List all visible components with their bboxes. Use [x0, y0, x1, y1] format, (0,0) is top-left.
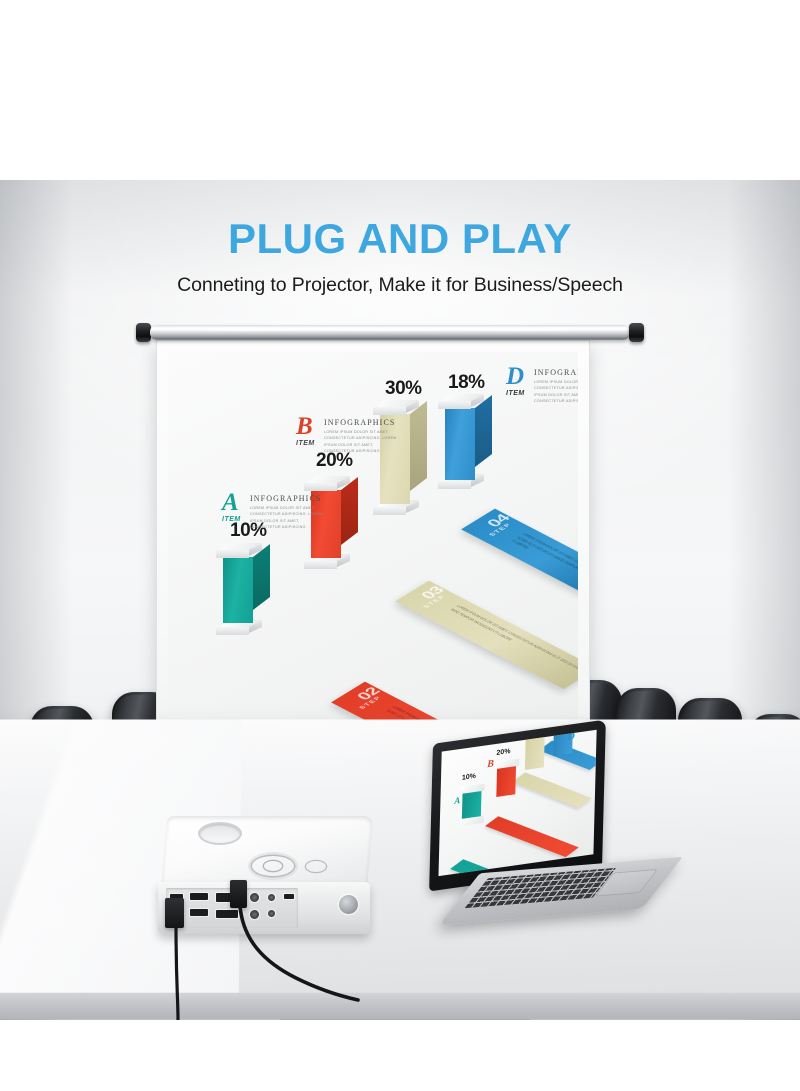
- page-subtitle: Conneting to Projector, Make it for Busi…: [0, 260, 800, 297]
- cable-group: [0, 180, 800, 1020]
- page-title: PLUG AND PLAY: [0, 180, 800, 260]
- product-image-root: PLUG AND PLAY Conneting to Projector, Ma…: [0, 0, 800, 1091]
- power-cable: [176, 926, 178, 1020]
- hdmi-cable: [240, 906, 358, 1000]
- conference-room-photo: PLUG AND PLAY Conneting to Projector, Ma…: [0, 180, 800, 1020]
- headline-block: PLUG AND PLAY Conneting to Projector, Ma…: [0, 180, 800, 297]
